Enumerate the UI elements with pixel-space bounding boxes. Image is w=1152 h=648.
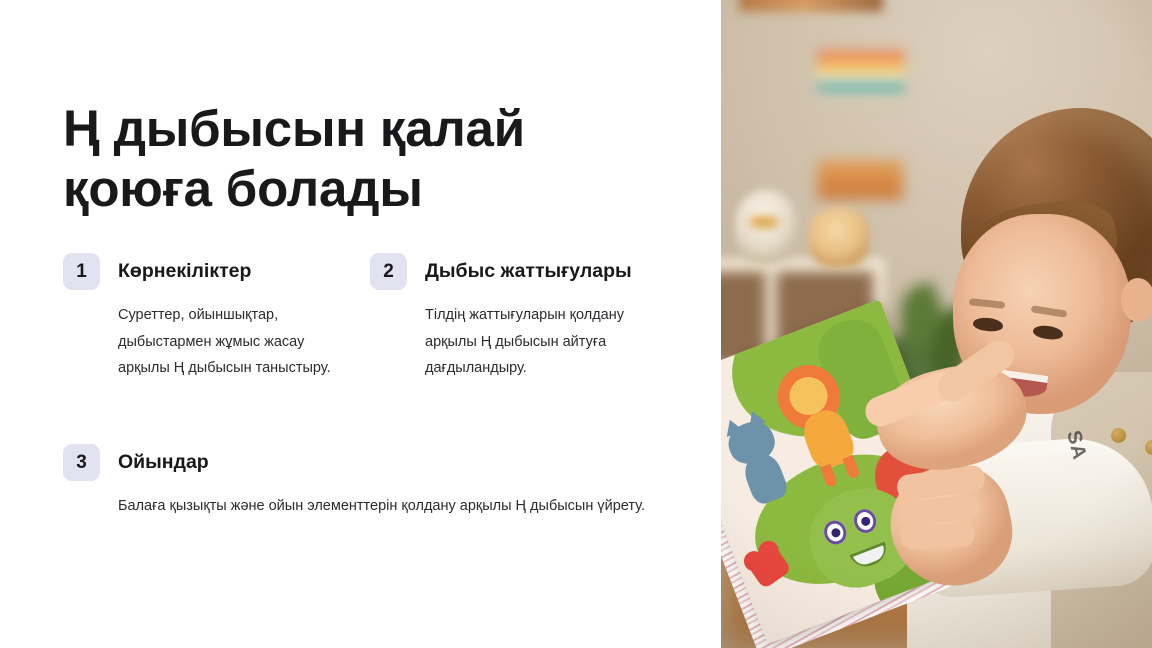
list-item-title: Дыбыс жаттығулары (407, 259, 632, 284)
wall-art-frame (739, 0, 883, 12)
shelf-books (817, 50, 905, 102)
slide: Ң дыбысын қалай қоюға болады 1 Көрнекілі… (0, 0, 1152, 648)
list-item: 3 Ойындар Балаға қызықты және ойын элеме… (63, 450, 663, 520)
list-item-title: Көрнекіліктер (100, 259, 251, 284)
list-item-header: 3 Ойындар (63, 450, 663, 481)
list-item: 1 Көрнекіліктер Суреттер, ойыншықтар, ды… (63, 259, 353, 382)
child-finger (900, 522, 975, 550)
owl-toy (735, 190, 797, 264)
child-reading-photo: SA (721, 0, 1152, 648)
bear-toy (809, 208, 869, 268)
list-item-header: 2 Дыбыс жаттығулары (370, 259, 670, 290)
monster-eye (851, 506, 880, 536)
monster-eye (821, 517, 850, 547)
book-illustration-swirl (721, 437, 725, 482)
status-badge: 1 (63, 253, 100, 290)
list-item: 2 Дыбыс жаттығулары Тілдің жаттығуларын … (370, 259, 670, 382)
status-badge: 3 (63, 444, 100, 481)
list-item-body: Балаға қызықты және ойын элементтерін қо… (63, 493, 663, 520)
list-item-body: Тілдің жаттығуларын қолдану арқылы Ң дыб… (370, 302, 670, 382)
sweater-button (1111, 428, 1126, 443)
list-item-title: Ойындар (100, 450, 209, 475)
child-ear (1121, 278, 1152, 322)
status-badge: 2 (370, 253, 407, 290)
list-item-body: Суреттер, ойыншықтар, дыбыстармен жұмыс … (63, 302, 353, 382)
monster-mouth (849, 541, 891, 571)
page-title-line-1: Ң дыбысын қалай (63, 99, 623, 159)
content-panel: Ң дыбысын қалай қоюға болады 1 Көрнекілі… (0, 0, 721, 648)
page-title: Ң дыбысын қалай қоюға болады (63, 99, 623, 219)
list-item-header: 1 Көрнекіліктер (63, 259, 353, 290)
page-title-line-2: қоюға болады (63, 159, 623, 219)
shelf-books (817, 160, 903, 200)
